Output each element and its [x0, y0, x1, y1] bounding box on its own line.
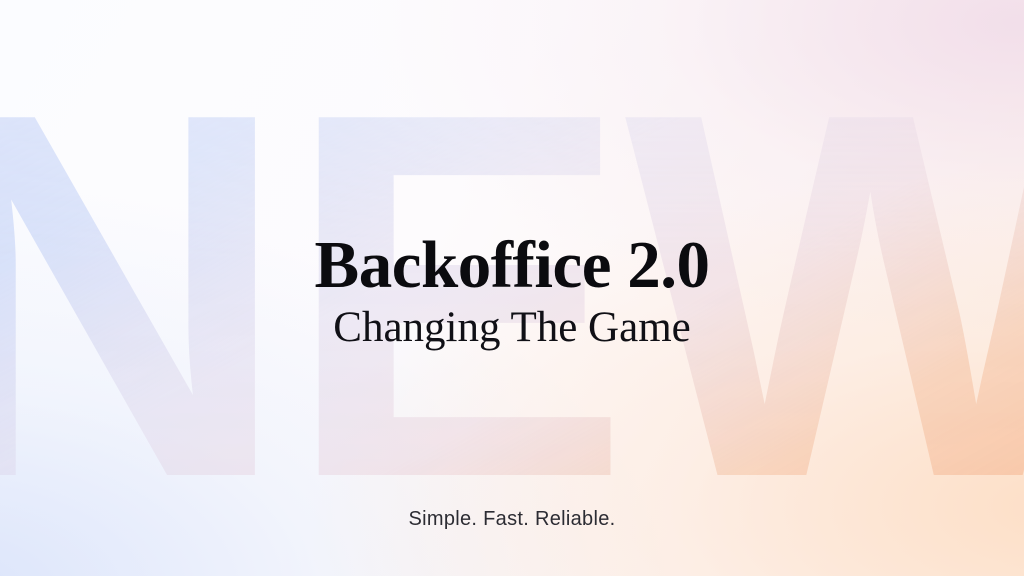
- page-subtitle: Changing The Game: [0, 305, 1024, 350]
- slide-content: Backoffice 2.0 Changing The Game Simple.…: [0, 0, 1024, 576]
- page-title: Backoffice 2.0: [0, 232, 1024, 299]
- title-slide: NEW Backoffice 2.0 Changing The Game Sim…: [0, 0, 1024, 576]
- hero-block: Backoffice 2.0 Changing The Game: [0, 232, 1024, 350]
- tagline: Simple. Fast. Reliable.: [0, 508, 1024, 531]
